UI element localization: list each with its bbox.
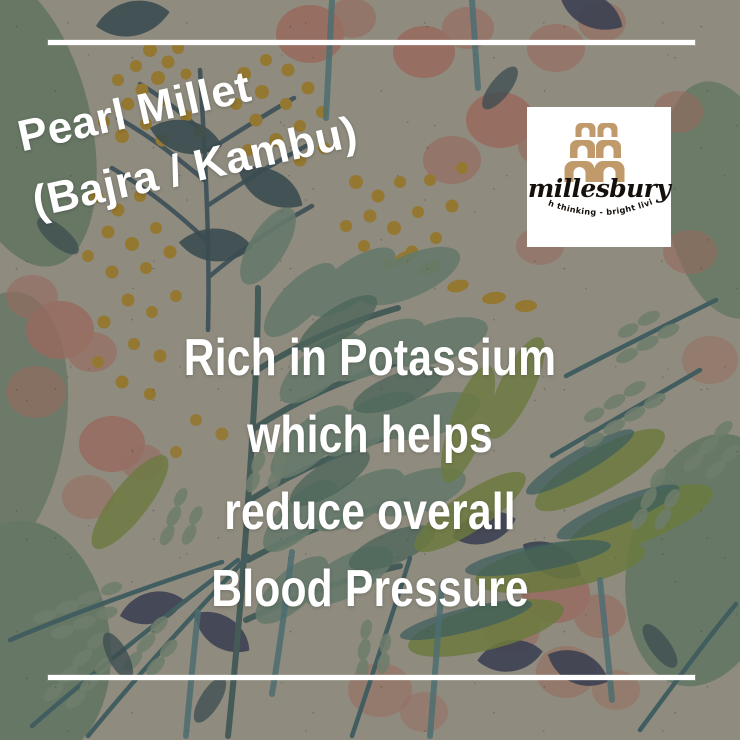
body-line-1: Rich in Potassium [67, 320, 674, 397]
brand-tagline-arc: high thinking - bright living [539, 200, 659, 226]
poster-canvas: Pearl Millet (Bajra / Kambu) millesbury [0, 0, 740, 740]
poster-body-copy: Rich in Potassium which helps reduce ove… [0, 320, 740, 628]
brand-logo-card[interactable]: millesbury high thinking - bright living [527, 107, 671, 247]
body-line-2: which helps [67, 397, 674, 474]
millesbury-mark-icon [564, 120, 634, 182]
body-line-3: reduce overall [67, 474, 674, 551]
body-line-4: Blood Pressure [67, 551, 674, 628]
bottom-divider-rule [48, 675, 695, 680]
